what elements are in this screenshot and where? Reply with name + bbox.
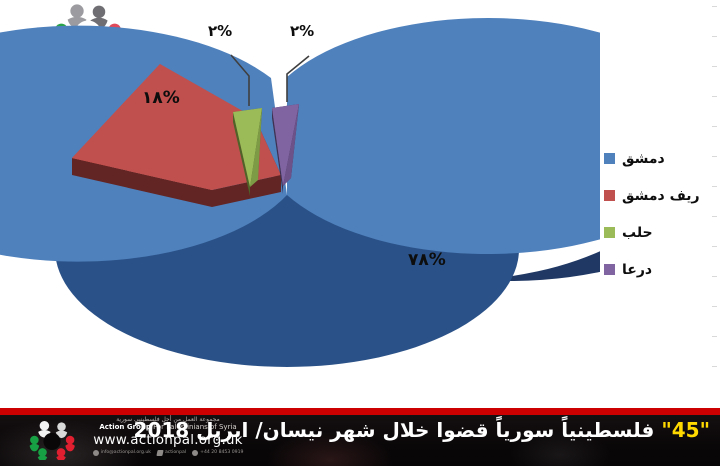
pie-chart-plot-area: ٧٨% ١٨% ٢% ٢% xyxy=(0,0,600,392)
legend-label-daraa: درعا xyxy=(622,262,652,278)
banner-contact-phone-text: +44 20 8453 0919 xyxy=(200,450,243,455)
data-label-daraa: ٢% xyxy=(290,22,314,40)
data-label-rural-damascus: ١٨% xyxy=(142,88,180,108)
phone-icon xyxy=(192,450,198,456)
legend-item-daraa[interactable]: درعا xyxy=(604,251,716,288)
data-label-aleppo: ٢% xyxy=(208,22,232,40)
page-edge-ruler xyxy=(711,0,717,398)
email-icon xyxy=(93,450,99,456)
legend-item-damascus[interactable]: دمشق xyxy=(604,140,716,177)
legend-label-damascus: دمشق xyxy=(622,151,665,167)
legend-swatch-damascus xyxy=(604,153,615,164)
banner-logo-icon xyxy=(28,420,76,460)
data-label-damascus: ٧٨% xyxy=(408,250,446,270)
telegram-icon xyxy=(156,450,163,456)
banner-contact-email-text: info@actionpal.org.uk xyxy=(101,450,151,455)
banner-contact-email[interactable]: info@actionpal.org.uk xyxy=(93,450,151,456)
banner-caption: "45" فلسطينياً سورياً قضوا خلال شهر نيسا… xyxy=(134,418,710,442)
screenshot-canvas: مجموعة العمل من أجل فلسطينيي سورية Actio… xyxy=(0,0,720,466)
chart-legend: دمشق ريف دمشق حلب درعا xyxy=(604,140,716,288)
banner-contact-phone[interactable]: +44 20 8453 0919 xyxy=(192,450,243,456)
legend-item-rural-damascus[interactable]: ريف دمشق xyxy=(604,177,716,214)
banner-caption-count: "45" xyxy=(661,418,710,442)
pie-chart-graphic[interactable] xyxy=(0,0,600,392)
legend-label-rural-damascus: ريف دمشق xyxy=(622,188,700,204)
legend-swatch-daraa xyxy=(604,264,615,275)
legend-item-aleppo[interactable]: حلب xyxy=(604,214,716,251)
banner-accent-stripe xyxy=(0,408,720,415)
legend-swatch-rural-damascus xyxy=(604,190,615,201)
banner-caption-text: فلسطينياً سورياً قضوا خلال شهر نيسان/ اب… xyxy=(134,418,662,442)
banner-contact-telegram[interactable]: actionpal xyxy=(157,450,186,456)
legend-swatch-aleppo xyxy=(604,227,615,238)
legend-label-aleppo: حلب xyxy=(622,225,653,241)
footer-banner: مجموعة العمل من أجل فلسطينيي سورية Actio… xyxy=(0,408,720,466)
banner-contact-row: info@actionpal.org.uk actionpal +44 20 8… xyxy=(88,450,248,456)
banner-contact-telegram-text: actionpal xyxy=(165,450,186,455)
pie-slice-damascus xyxy=(0,18,600,367)
